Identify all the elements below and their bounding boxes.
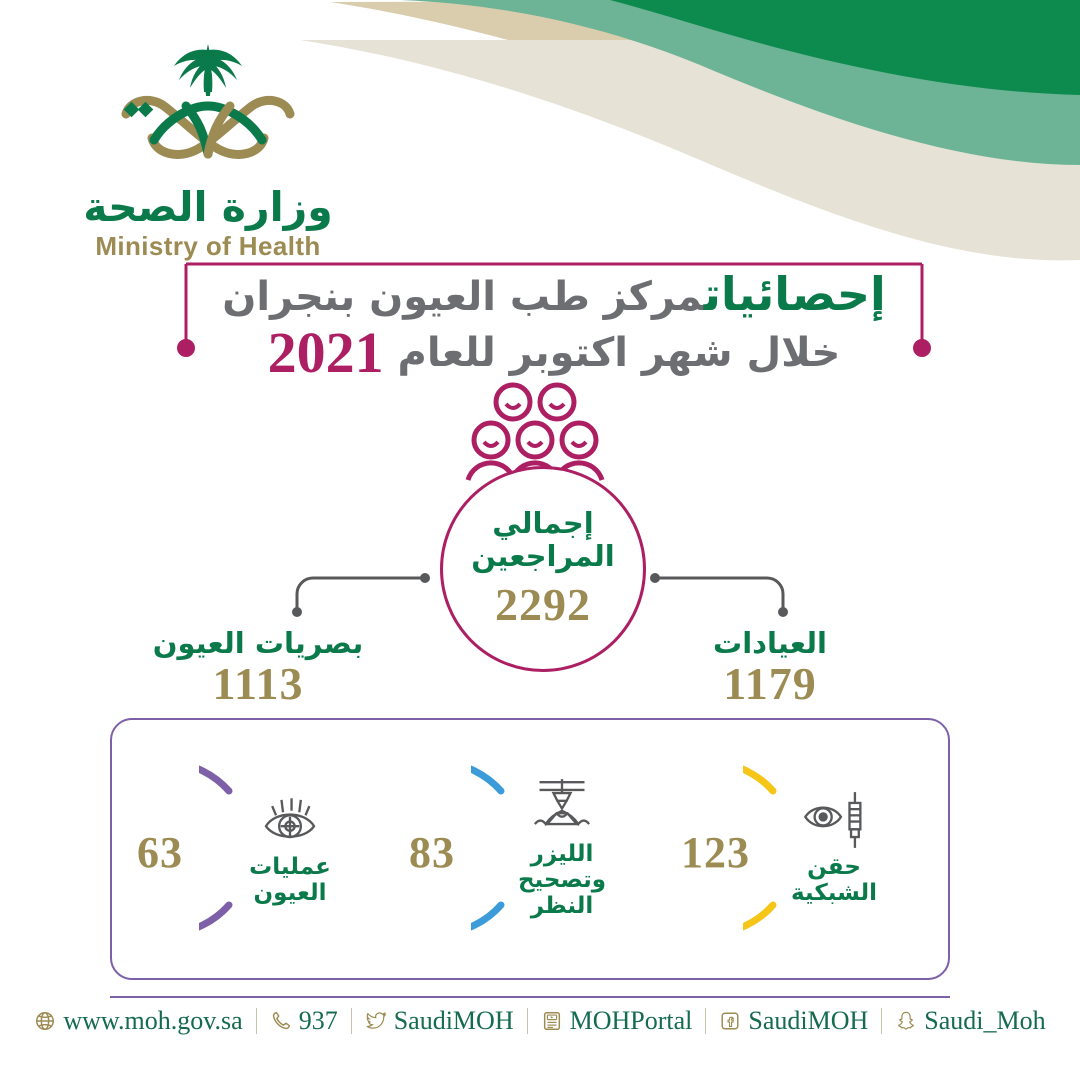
logo-arabic-text: وزارة الصحة xyxy=(78,186,338,229)
title-line-2: خلال شهر اكتوبر للعام 2021 xyxy=(194,320,914,387)
connector-left-dot-inner xyxy=(420,573,430,583)
footer-item-snapchat[interactable]: Saudi_Moh xyxy=(882,1006,1058,1036)
branch-clinics: العيادات 1179 xyxy=(620,628,920,708)
hub-label-line2: المراجعين xyxy=(471,540,614,572)
footer-item-youtube[interactable]: MOHPortal xyxy=(528,1006,706,1036)
footer-website-text: www.moh.gov.sa xyxy=(63,1006,242,1036)
stat-retinal-injections-label: حقن الشبكية xyxy=(791,855,877,907)
stat-laser-vision-correction: الليزر وتصحيح النظر 83 xyxy=(407,749,653,949)
footer-item-facebook[interactable]: SaudiMOH xyxy=(706,1006,881,1036)
footer-contact-bar: www.moh.gov.sa 937 SaudiMOH xyxy=(0,1006,1080,1036)
title-block: إحصائياتمركز طب العيون بنجران خلال شهر ا… xyxy=(176,258,932,358)
twitter-icon xyxy=(365,1010,387,1032)
moh-logo-mark xyxy=(108,34,308,184)
label-line-1: الليزر xyxy=(518,842,606,868)
connector-left-dot-outer xyxy=(292,607,302,617)
stat-laser-vision-correction-value: 83 xyxy=(409,831,455,875)
branch-clinics-value: 1179 xyxy=(620,660,920,708)
label-line-2: الشبكية xyxy=(791,881,877,907)
title-line1-rest: مركز طب العيون بنجران xyxy=(222,274,703,320)
footer-phone-text: 937 xyxy=(299,1006,338,1036)
label-line-2: وتصحيح xyxy=(518,868,606,894)
syringe-part xyxy=(850,792,861,848)
footer-facebook-text: SaudiMOH xyxy=(748,1006,868,1036)
stat-laser-vision-correction-label: الليزر وتصحيح النظر xyxy=(518,842,606,919)
title-highlight: إحصائيات xyxy=(704,267,886,321)
hub-value: 2292 xyxy=(495,578,591,631)
label-line-1: عمليات xyxy=(249,855,331,881)
footer-twitter-text: SaudiMOH xyxy=(394,1006,514,1036)
moh-logo: وزارة الصحة Ministry of Health xyxy=(78,34,338,262)
bracket-dot-left xyxy=(177,339,195,357)
branch-optics: بصريات العيون 1113 xyxy=(108,628,408,708)
footer-youtube-text: MOHPortal xyxy=(570,1006,693,1036)
title-line-1: إحصائياتمركز طب العيون بنجران xyxy=(194,266,914,324)
bracket-dot-right xyxy=(913,339,931,357)
connector-right xyxy=(655,578,783,610)
footer-divider xyxy=(110,996,950,998)
footer-item-website[interactable]: www.moh.gov.sa xyxy=(21,1006,255,1036)
hub-label: إجمالي المراجعين xyxy=(471,507,614,572)
branch-optics-value: 1113 xyxy=(108,660,408,708)
label-line-1: حقن xyxy=(791,855,877,881)
eye-syringe-icon xyxy=(799,789,869,851)
laser-eye-icon xyxy=(527,776,597,838)
facebook-icon xyxy=(719,1010,741,1032)
footer-item-twitter[interactable]: SaudiMOH xyxy=(352,1006,527,1036)
procedures-panel: حقن الشبكية 123 xyxy=(110,718,950,980)
stat-eye-surgeries-value: 63 xyxy=(137,831,183,875)
footer-snapchat-text: Saudi_Moh xyxy=(924,1006,1045,1036)
stat-eye-surgeries-label: عمليات العيون xyxy=(249,855,331,907)
label-line-3: النظر xyxy=(518,894,606,920)
globe-icon xyxy=(34,1010,56,1032)
connector-left xyxy=(297,578,425,610)
phone-icon xyxy=(270,1010,292,1032)
snapchat-icon xyxy=(895,1010,917,1032)
title-year: 2021 xyxy=(268,320,384,385)
connector-right-dot-outer xyxy=(778,607,788,617)
connector-right-dot-inner xyxy=(650,573,660,583)
stat-eye-surgeries: عمليات العيون 63 xyxy=(135,749,381,949)
infographic-page: وزارة الصحة Ministry of Health إحصائياتم… xyxy=(0,0,1080,1080)
total-visitors-circle: إجمالي المراجعين 2292 xyxy=(440,466,646,672)
palm-tree-icon xyxy=(174,44,242,96)
stat-retinal-injections: حقن الشبكية 123 xyxy=(679,749,925,949)
stat-retinal-injections-value: 123 xyxy=(681,831,750,875)
label-line-2: العيون xyxy=(249,881,331,907)
branch-optics-label: بصريات العيون xyxy=(108,628,408,660)
youtube-icon xyxy=(541,1010,563,1032)
eye-target-icon xyxy=(255,789,325,851)
hub-label-line1: إجمالي xyxy=(471,507,614,539)
branch-clinics-label: العيادات xyxy=(620,628,920,660)
title-line2-rest: خلال شهر اكتوبر للعام xyxy=(398,330,841,376)
footer-item-phone[interactable]: 937 xyxy=(257,1006,351,1036)
